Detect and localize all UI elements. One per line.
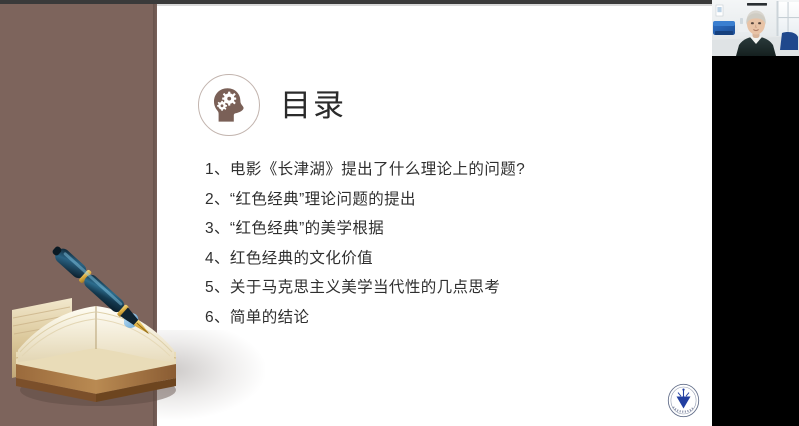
agenda-item: 4、红色经典的文化价值 [205,244,675,274]
slide-heading: 目录 [198,74,346,136]
agenda-item: 3、“红色经典”的美学根据 [205,214,675,244]
agenda-list: 1、电影《长津湖》提出了什么理论上的问题? 2、“红色经典”理论问题的提出 3、… [205,155,675,332]
agenda-item: 5、关于马克思主义美学当代性的几点思考 [205,273,675,303]
agenda-item: 1、电影《长津湖》提出了什么理论上的问题? [205,155,675,185]
presenter-video-tile[interactable] [712,0,799,56]
participant-rail[interactable] [712,0,799,426]
shared-slide[interactable]: 目录 1、电影《长津湖》提出了什么理论上的问题? 2、“红色经典”理论问题的提出… [0,0,712,426]
slide-top-edge [0,0,712,4]
open-book-with-pen-icon [6,232,182,410]
head-with-gears-icon [198,74,260,136]
slide-top-hairline [157,4,712,6]
agenda-item: 2、“红色经典”理论问题的提出 [205,185,675,215]
university-seal-icon [667,383,700,418]
agenda-item: 6、简单的结论 [205,303,675,333]
meeting-screen: 目录 1、电影《长津湖》提出了什么理论上的问题? 2、“红色经典”理论问题的提出… [0,0,799,426]
page-title: 目录 [280,90,346,121]
